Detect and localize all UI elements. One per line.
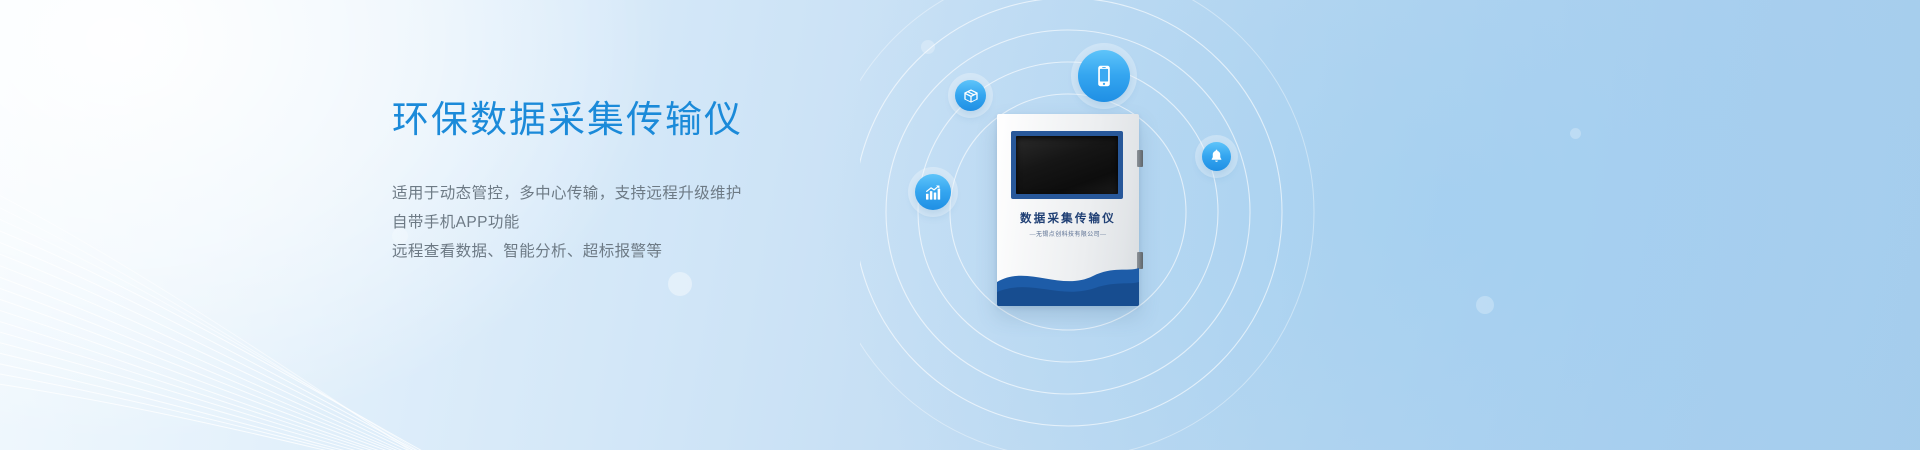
product-scene: 数据采集传输仪 —无锡点创科技有限公司— bbox=[860, 0, 1420, 450]
bokeh-circle bbox=[1570, 128, 1581, 139]
page-title: 环保数据采集传输仪 bbox=[392, 98, 872, 142]
subtitle-line-3: 远程查看数据、智能分析、超标报警等 bbox=[392, 237, 872, 266]
subtitle-line-1: 适用于动态管控，多中心传输，支持远程升级维护 bbox=[392, 179, 872, 208]
subtitle-list: 适用于动态管控，多中心传输，支持远程升级维护 自带手机APP功能 远程查看数据、… bbox=[392, 179, 872, 266]
device-screen bbox=[1016, 136, 1118, 194]
bokeh-circle bbox=[1476, 296, 1494, 314]
chart-icon[interactable] bbox=[915, 174, 951, 210]
cube-icon[interactable] bbox=[955, 80, 986, 111]
decorative-arc-rings bbox=[860, 0, 1420, 450]
device-title: 数据采集传输仪 bbox=[997, 210, 1139, 226]
product-banner: 环保数据采集传输仪 适用于动态管控，多中心传输，支持远程升级维护 自带手机APP… bbox=[0, 0, 1920, 450]
device-hinge bbox=[1137, 150, 1143, 167]
subtitle-line-2: 自带手机APP功能 bbox=[392, 208, 872, 237]
alarm-icon[interactable] bbox=[1202, 142, 1231, 171]
device-wave-footer bbox=[997, 252, 1139, 306]
device-screen-bezel bbox=[1011, 131, 1123, 199]
data-acquisition-device: 数据采集传输仪 —无锡点创科技有限公司— bbox=[997, 114, 1139, 306]
banner-text-block: 环保数据采集传输仪 适用于动态管控，多中心传输，支持远程升级维护 自带手机APP… bbox=[392, 98, 872, 266]
phone-icon[interactable] bbox=[1078, 50, 1130, 102]
device-company-label: —无锡点创科技有限公司— bbox=[997, 229, 1139, 238]
